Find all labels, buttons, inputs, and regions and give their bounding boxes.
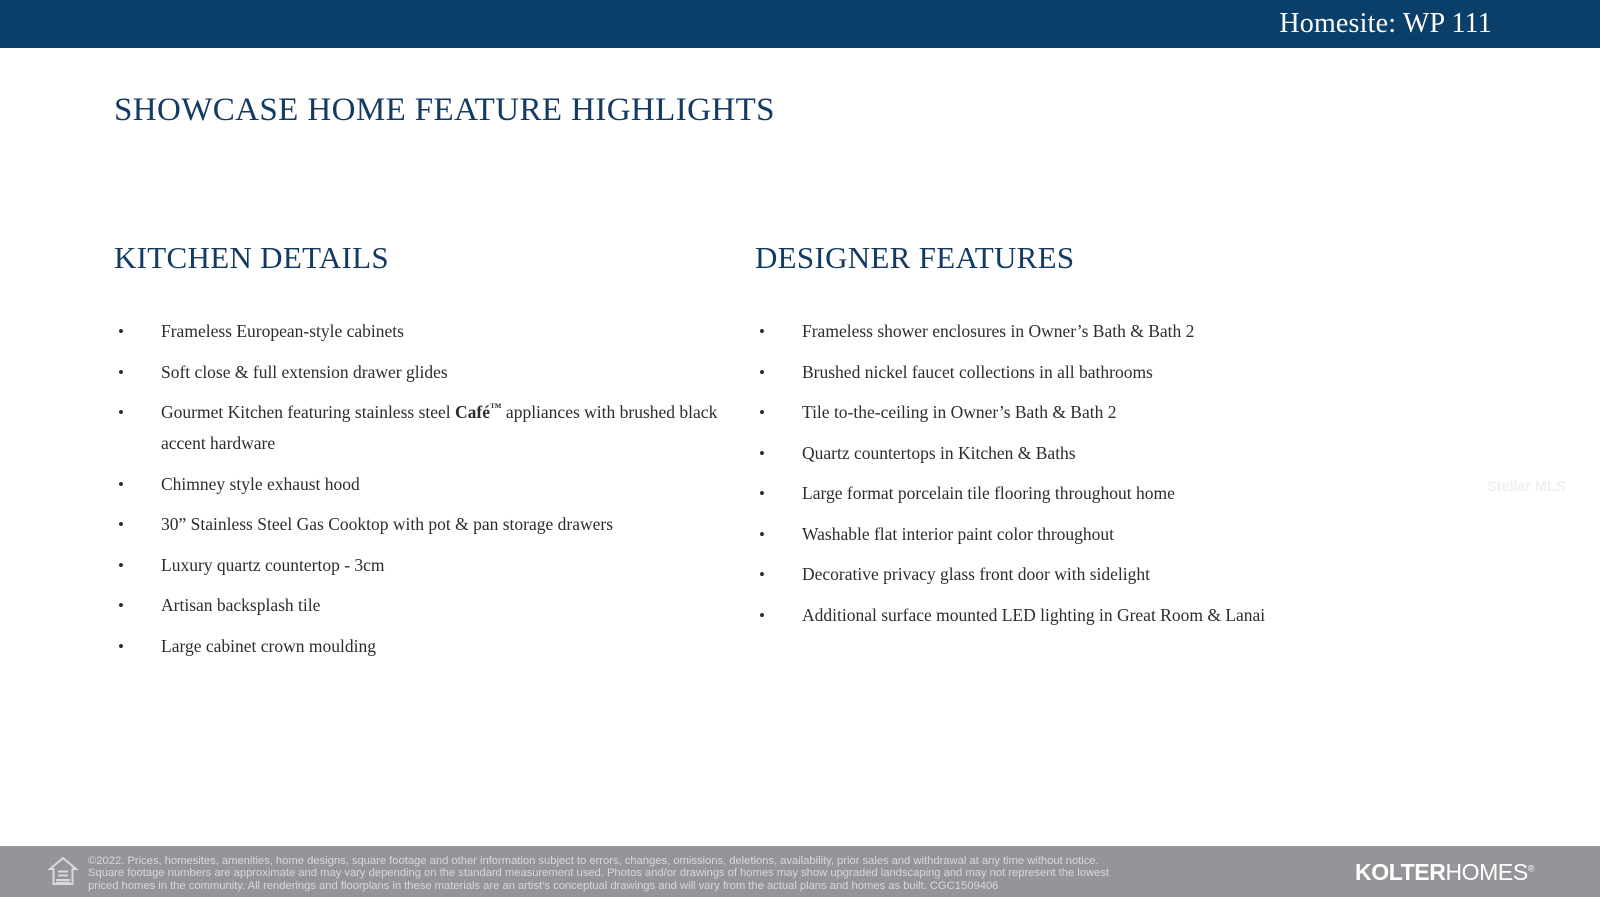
logo-kolter-text: KOLTER [1355,859,1445,885]
footer-disclaimer-line: Square footage numbers are approximate a… [88,867,1338,879]
list-item: Large format porcelain tile flooring thr… [755,478,1395,509]
list-item: Frameless shower enclosures in Owner’s B… [755,316,1395,347]
equal-housing-opportunity-icon [48,855,78,887]
list-item: Brushed nickel faucet collections in all… [755,357,1395,388]
list-item: Washable flat interior paint color throu… [755,519,1395,550]
list-item: Large cabinet crown moulding [114,631,754,662]
list-item-cafe-appliances: Gourmet Kitchen featuring stainless stee… [114,397,754,459]
list-item: Frameless European-style cabinets [114,316,754,347]
kitchen-details-list: Frameless European-style cabinets Soft c… [114,316,754,662]
column-kitchen-details: KITCHEN DETAILS Frameless European-style… [114,240,754,671]
list-item: Quartz countertops in Kitchen & Baths [755,438,1395,469]
list-item: Additional surface mounted LED lighting … [755,600,1395,631]
footer-disclaimer-line: priced homes in the community. All rende… [88,880,1338,892]
stellar-mls-watermark: Stellar MLS [1487,478,1565,495]
header-bar: Homesite: WP 111 [0,0,1600,48]
list-item: Tile to-the-ceiling in Owner’s Bath & Ba… [755,397,1395,428]
list-item: Luxury quartz countertop - 3cm [114,550,754,581]
homesite-title: Homesite: WP 111 [1279,10,1600,38]
slide-body: SHOWCASE HOME FEATURE HIGHLIGHTS KITCHEN… [0,48,1600,846]
footer-disclaimer-line: ©2022. Prices, homesites, amenities, hom… [88,855,1338,867]
designer-features-list: Frameless shower enclosures in Owner’s B… [755,316,1395,631]
footer-disclaimer: ©2022. Prices, homesites, amenities, hom… [88,855,1338,892]
kolter-homes-logo: KOLTERHOMES® [1355,859,1534,886]
list-item: Chimney style exhaust hood [114,469,754,500]
logo-homes-text: HOMES [1445,859,1527,885]
list-item: 30” Stainless Steel Gas Cooktop with pot… [114,509,754,540]
column-heading-designer-features: DESIGNER FEATURES [755,240,1395,276]
list-item: Soft close & full extension drawer glide… [114,357,754,388]
logo-registered-mark: ® [1528,863,1534,873]
column-designer-features: DESIGNER FEATURES Frameless shower enclo… [755,240,1395,640]
footer-bar: ©2022. Prices, homesites, amenities, hom… [0,846,1600,897]
list-item: Artisan backsplash tile [114,590,754,621]
list-item: Decorative privacy glass front door with… [755,559,1395,590]
page-title: SHOWCASE HOME FEATURE HIGHLIGHTS [114,92,775,129]
column-heading-kitchen-details: KITCHEN DETAILS [114,240,754,276]
